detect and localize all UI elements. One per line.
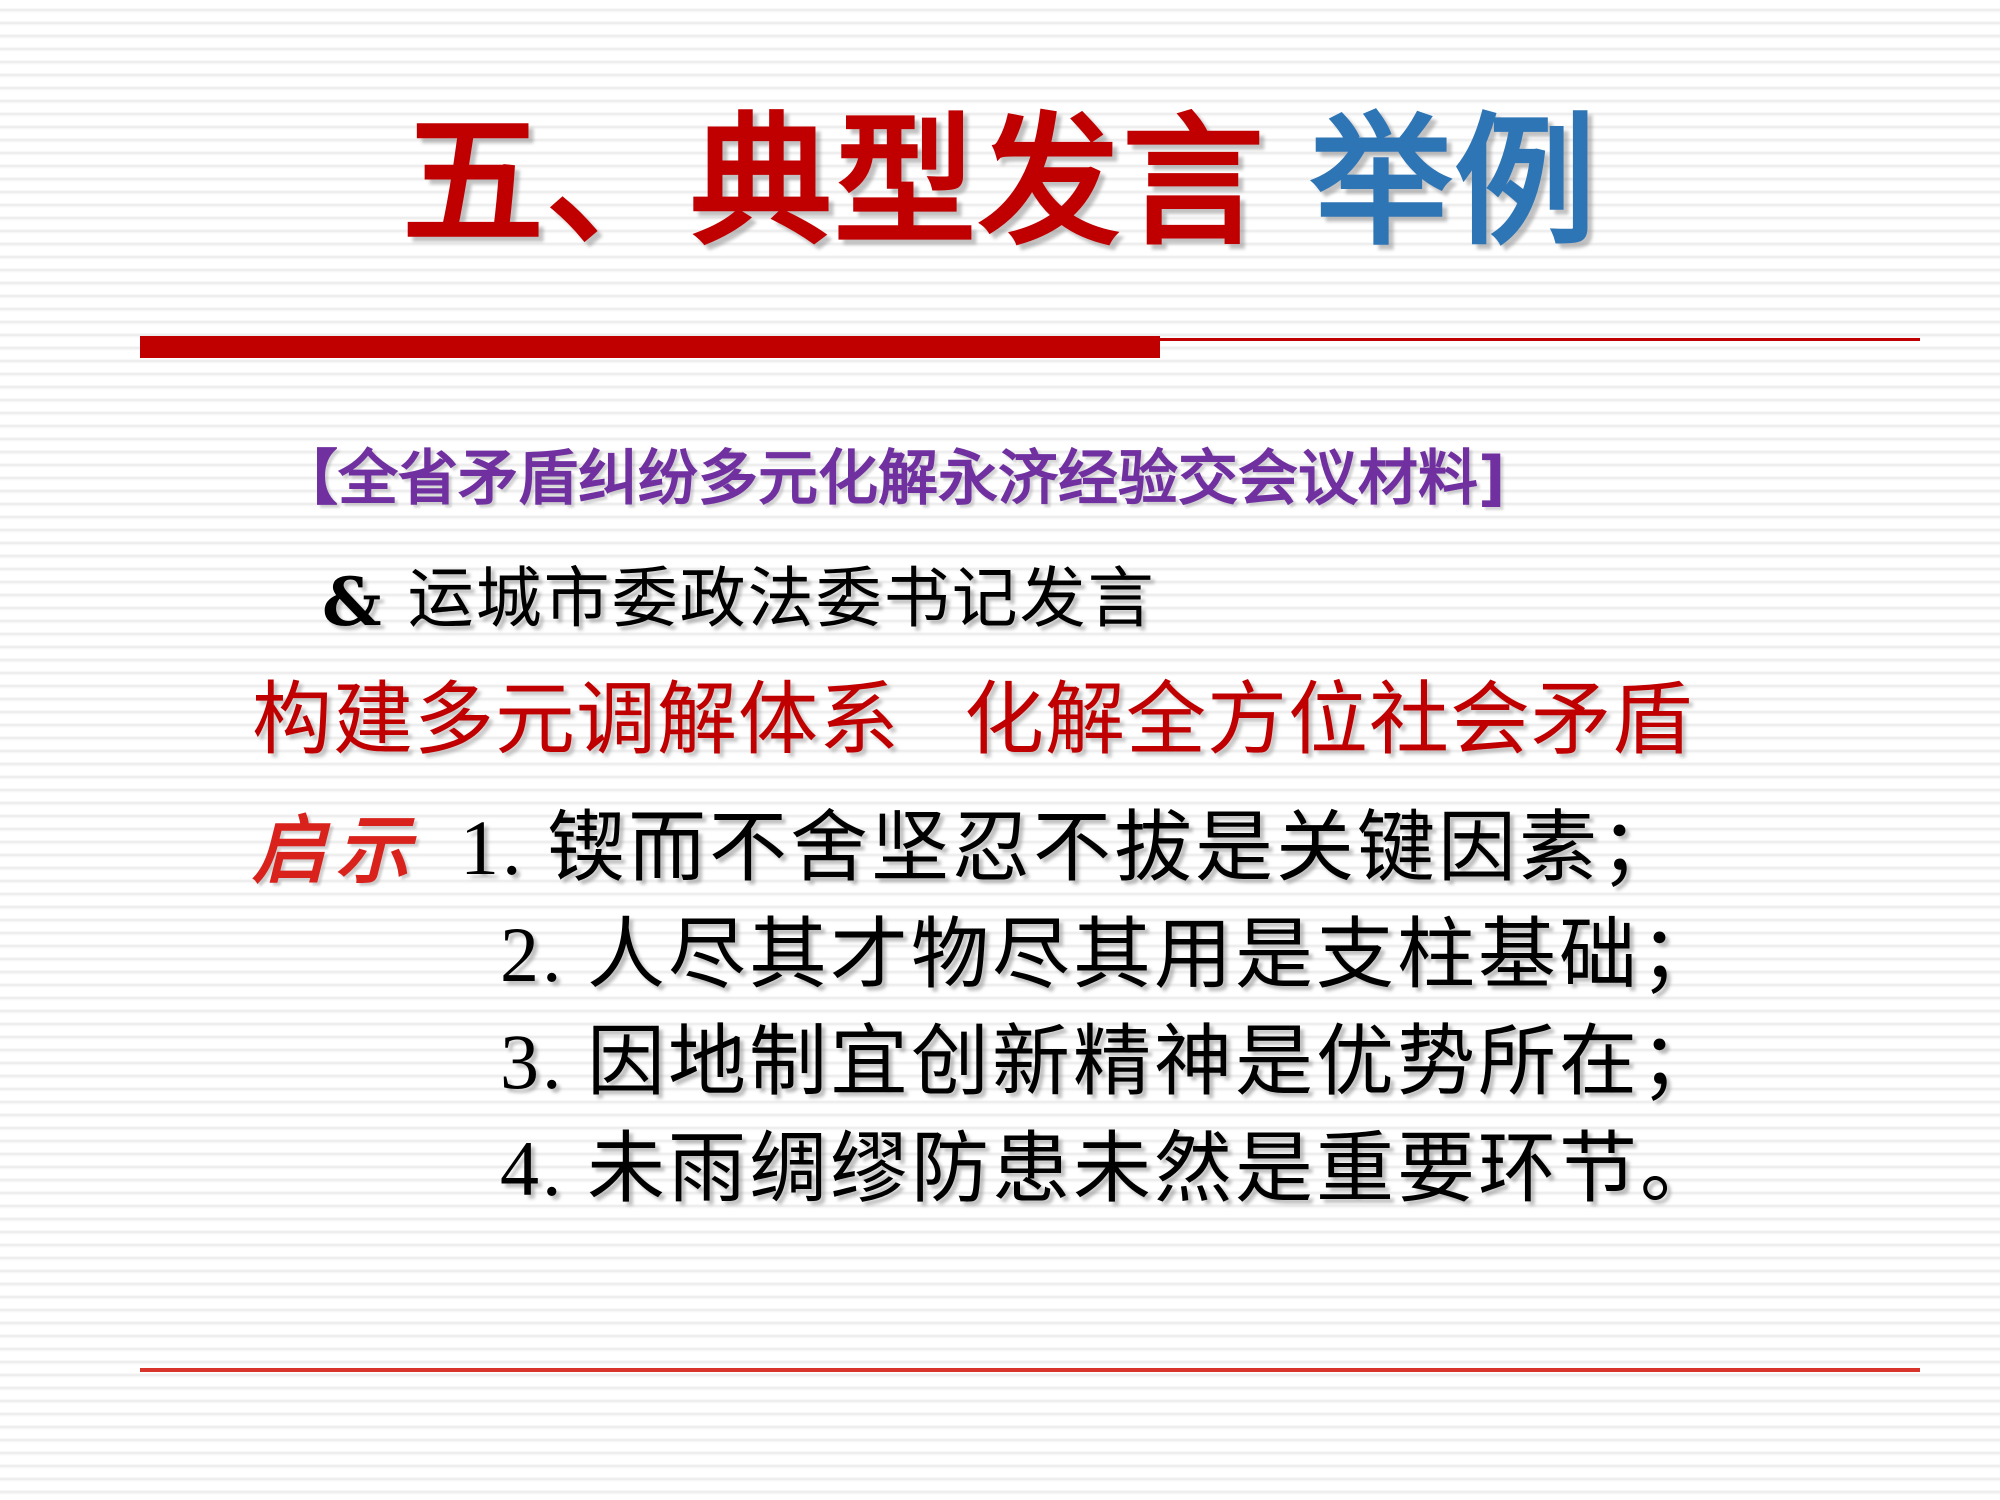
title-divider-thin-rule — [1160, 338, 1920, 341]
lesson-item-1: 1. 锲而不舍坚忍不拔是关键因素； — [460, 785, 1681, 897]
lesson-row: 3. 因地制宜创新精神是优势所在； — [252, 999, 1852, 1106]
slogan-right: 化解全方位社会矛盾 — [964, 677, 1693, 765]
lesson-item-2: 2. 人尽其才物尽其用是支柱基础； — [500, 892, 1721, 1004]
lesson-row: 4. 未雨绸缪防患未然是重要环节。 — [252, 1106, 1852, 1213]
lesson-item-3: 3. 因地制宜创新精神是优势所在； — [500, 999, 1721, 1111]
lesson-item-4: 4. 未雨绸缪防患未然是重要环节。 — [500, 1106, 1721, 1218]
lessons-block: 启示 1. 锲而不舍坚忍不拔是关键因素； 2. 人尽其才物尽其用是支柱基础； 3… — [252, 785, 1852, 1213]
slogan-line: 构建多元调解体系化解全方位社会矛盾 — [252, 655, 1693, 771]
slide-title-blue-part: 举例 — [1310, 100, 1598, 265]
speaker-title-text: 运城市委政法委书记发言 — [408, 563, 1156, 636]
speaker-line: &运城市委政法委书记发言 — [322, 545, 1156, 641]
lesson-row: 启示 1. 锲而不舍坚忍不拔是关键因素； — [252, 785, 1852, 892]
presentation-slide: 五、典型发言举例 【全省矛盾纠纷多元化解永济经验交会议材料] &运城市委政法委书… — [0, 0, 2000, 1500]
slogan-left: 构建多元调解体系 — [252, 677, 900, 765]
title-divider-thick-bar — [140, 336, 1160, 358]
slide-title: 五、典型发言举例 — [0, 112, 2000, 254]
slide-title-red-part: 五、典型发言 — [402, 100, 1266, 265]
lesson-row: 2. 人尽其才物尽其用是支柱基础； — [252, 892, 1852, 999]
footer-divider — [140, 1368, 1920, 1372]
title-divider — [140, 336, 1920, 358]
ampersand-bullet-icon: & — [322, 563, 382, 641]
lessons-label: 启示 — [252, 791, 420, 898]
document-source-heading: 【全省矛盾纠纷多元化解永济经验交会议材料] — [278, 430, 1505, 517]
